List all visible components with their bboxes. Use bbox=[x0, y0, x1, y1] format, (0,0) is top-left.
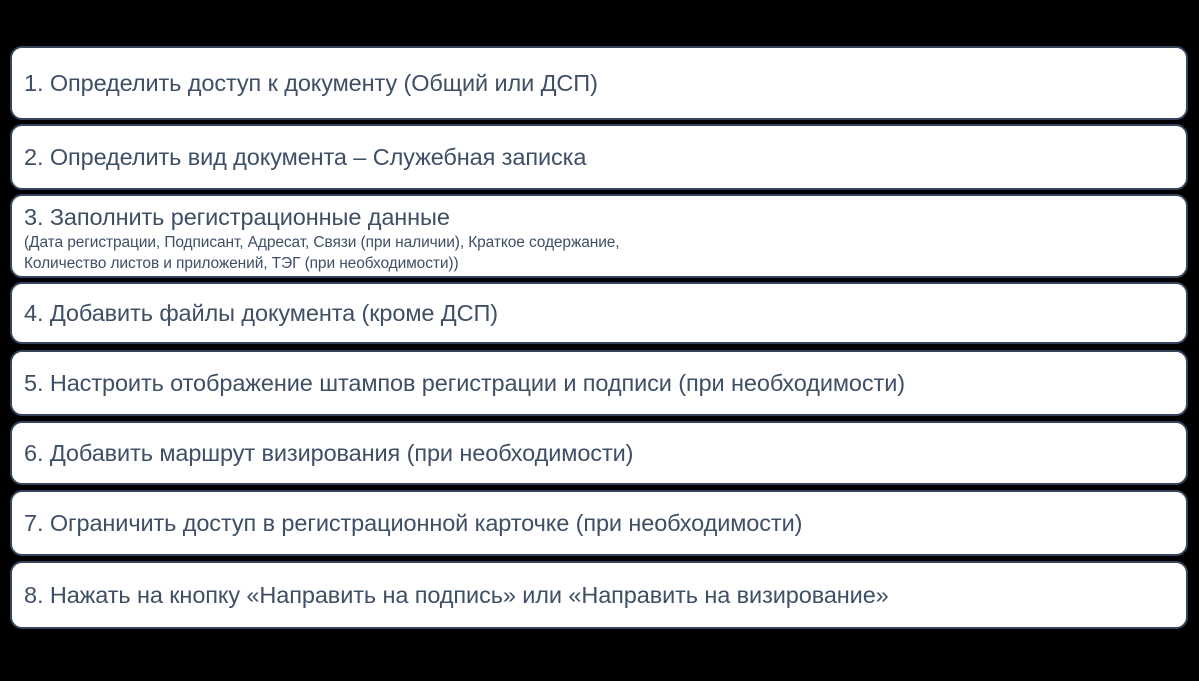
step-item-4[interactable]: 4. Добавить файлы документа (кроме ДСП) bbox=[10, 282, 1188, 344]
step-title: 1. Определить доступ к документу (Общий … bbox=[24, 68, 1174, 98]
step-item-7[interactable]: 7. Ограничить доступ в регистрационной к… bbox=[10, 490, 1188, 556]
step-title: 8. Нажать на кнопку «Направить на подпис… bbox=[24, 580, 1174, 610]
step-item-5[interactable]: 5. Настроить отображение штампов регистр… bbox=[10, 350, 1188, 416]
step-title: 6. Добавить маршрут визирования (при нео… bbox=[24, 438, 1174, 468]
step-title: 4. Добавить файлы документа (кроме ДСП) bbox=[24, 298, 1174, 328]
step-title: 5. Настроить отображение штампов регистр… bbox=[24, 368, 1174, 398]
step-subtitle-line-2: Количество листов и приложений, ТЭГ (при… bbox=[24, 253, 1174, 274]
step-title: 7. Ограничить доступ в регистрационной к… bbox=[24, 508, 1174, 538]
step-item-8[interactable]: 8. Нажать на кнопку «Направить на подпис… bbox=[10, 561, 1188, 629]
step-item-1[interactable]: 1. Определить доступ к документу (Общий … bbox=[10, 46, 1188, 120]
step-title: 3. Заполнить регистрационные данные bbox=[24, 202, 1174, 232]
step-item-6[interactable]: 6. Добавить маршрут визирования (при нео… bbox=[10, 421, 1188, 485]
step-item-3[interactable]: 3. Заполнить регистрационные данные (Дат… bbox=[10, 194, 1188, 278]
step-subtitle-line-1: (Дата регистрации, Подписант, Адресат, С… bbox=[24, 232, 1174, 253]
step-flow-diagram: 1. Определить доступ к документу (Общий … bbox=[0, 0, 1199, 681]
step-item-2[interactable]: 2. Определить вид документа – Служебная … bbox=[10, 124, 1188, 190]
step-title: 2. Определить вид документа – Служебная … bbox=[24, 142, 1174, 172]
